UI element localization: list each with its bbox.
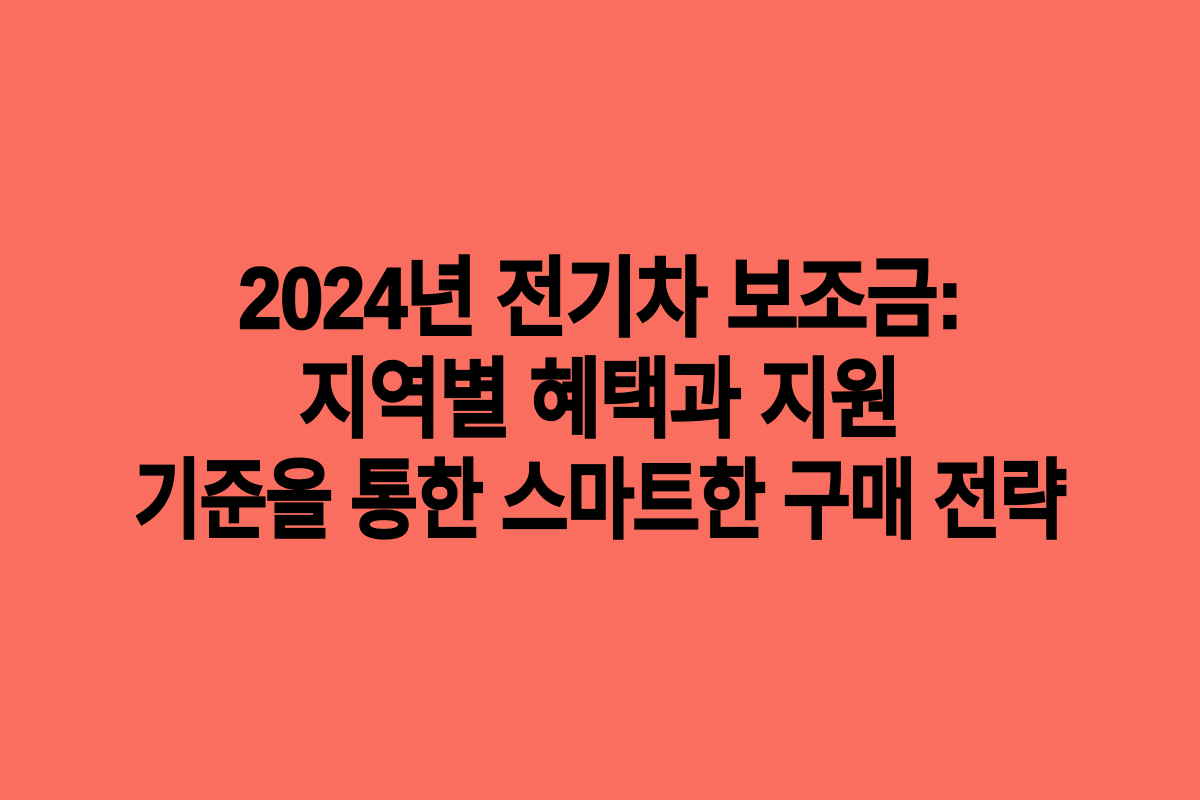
headline-line-2: 지역별 혜택과 지원 bbox=[69, 350, 1131, 451]
poster-canvas: 2024년 전기차 보조금: 지역별 혜택과 지원 기준을 통한 스마트한 구매… bbox=[0, 0, 1200, 800]
headline-line-1: 2024년 전기차 보조금: bbox=[69, 249, 1131, 350]
page-title: 2024년 전기차 보조금: 지역별 혜택과 지원 기준을 통한 스마트한 구매… bbox=[0, 249, 1200, 552]
headline-line-3: 기준을 통한 스마트한 구매 전략 bbox=[101, 451, 1098, 552]
